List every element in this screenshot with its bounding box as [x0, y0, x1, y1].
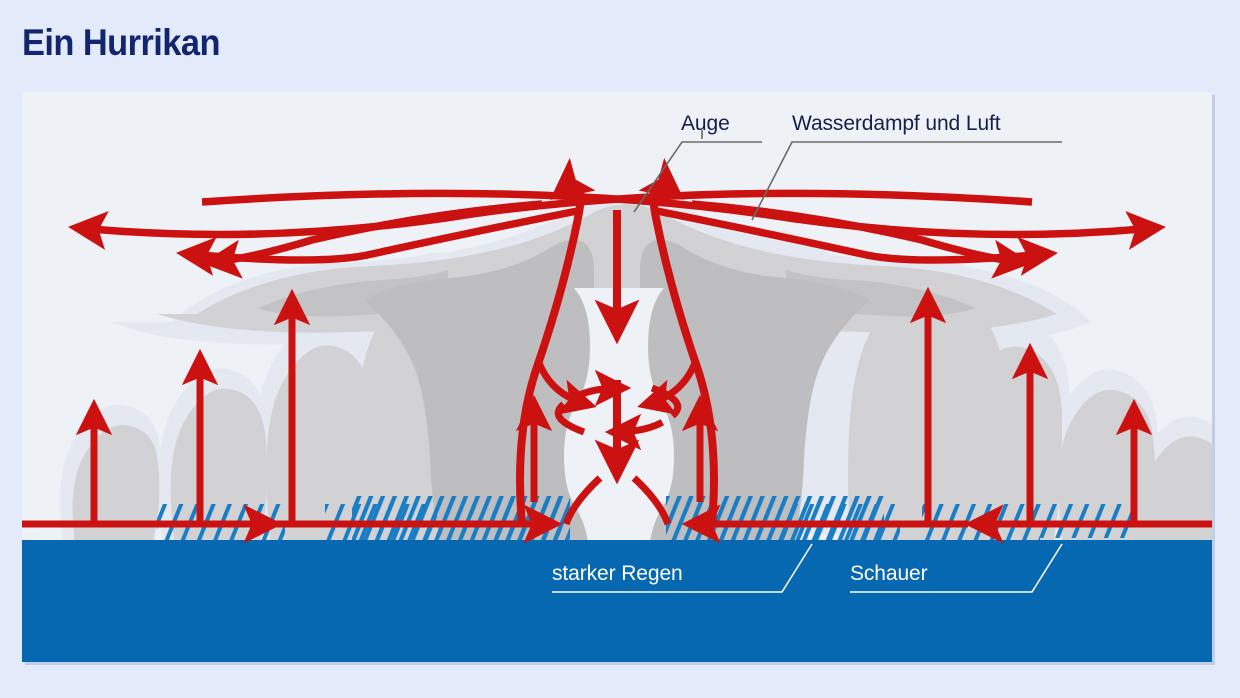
label-starker-regen: starker Regen	[552, 562, 683, 586]
rain-band-heavy-left	[352, 496, 570, 540]
label-auge: Auge	[681, 112, 730, 136]
label-schauer: Schauer	[850, 562, 928, 586]
label-wasserdampf-und-luft: Wasserdampf und Luft	[792, 112, 1001, 136]
ocean-band	[22, 540, 1212, 662]
diagram-panel: Auge Wasserdampf und Luft starker Regen …	[22, 92, 1212, 662]
infographic-page: Ein Hurrikan	[0, 0, 1240, 698]
page-title: Ein Hurrikan	[22, 22, 220, 64]
